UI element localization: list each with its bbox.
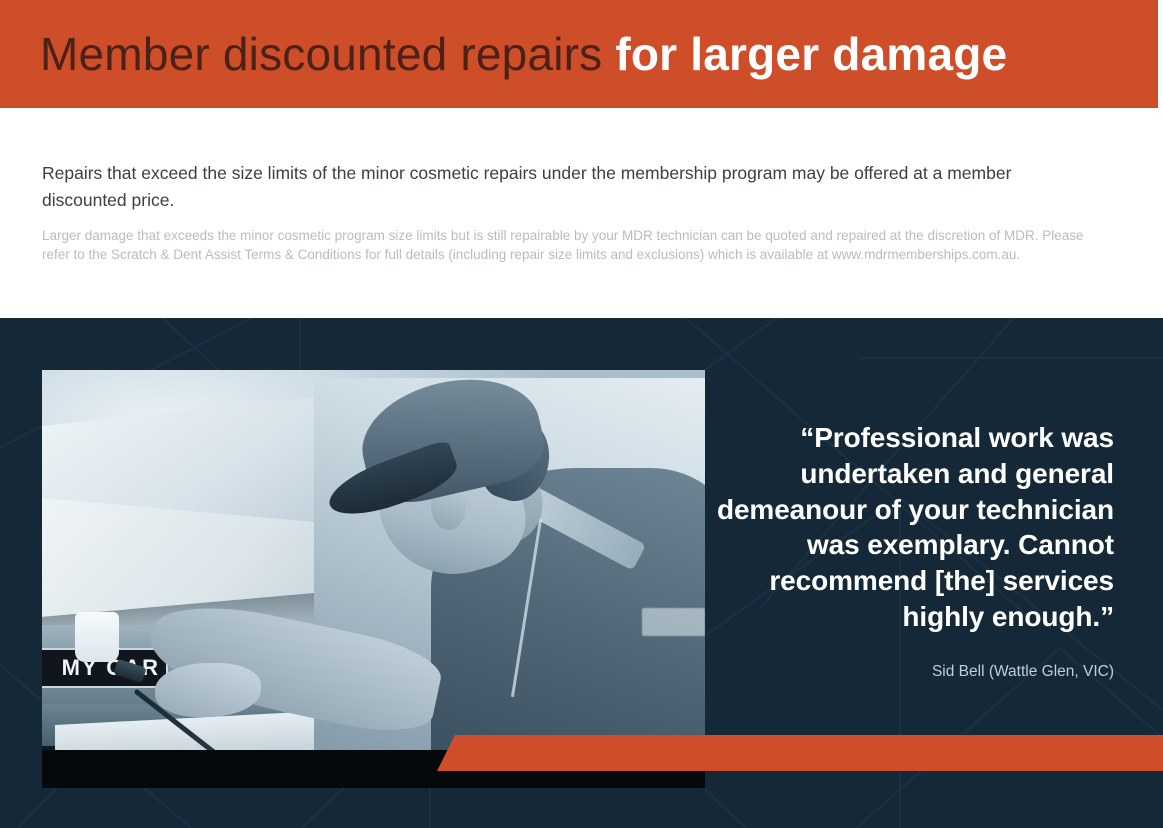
technician-hand — [155, 663, 261, 717]
header-banner: Member discounted repairs for larger dam… — [0, 0, 1158, 108]
testimonial-block: “Professional work was undertaken and ge… — [694, 420, 1114, 681]
accent-bar — [437, 735, 1163, 771]
testimonial-quote: “Professional work was undertaken and ge… — [694, 420, 1114, 635]
page-title-bold: for larger damage — [615, 28, 1007, 80]
intro-section: Repairs that exceed the size limits of t… — [0, 108, 1158, 318]
intro-lead-paragraph: Repairs that exceed the size limits of t… — [42, 160, 1052, 214]
page-title: Member discounted repairs for larger dam… — [0, 30, 1007, 78]
photo-composition: MY CAR — [42, 370, 705, 788]
intro-fine-print: Larger damage that exceeds the minor cos… — [42, 226, 1102, 264]
right-edge-strip — [1158, 0, 1163, 318]
technician-photo: MY CAR — [42, 370, 705, 788]
testimonial-attribution: Sid Bell (Wattle Glen, VIC) — [694, 663, 1114, 681]
slide-page: Member discounted repairs for larger dam… — [0, 0, 1163, 828]
page-title-light: Member discounted repairs — [40, 28, 602, 80]
spray-gun-cup — [75, 612, 119, 662]
